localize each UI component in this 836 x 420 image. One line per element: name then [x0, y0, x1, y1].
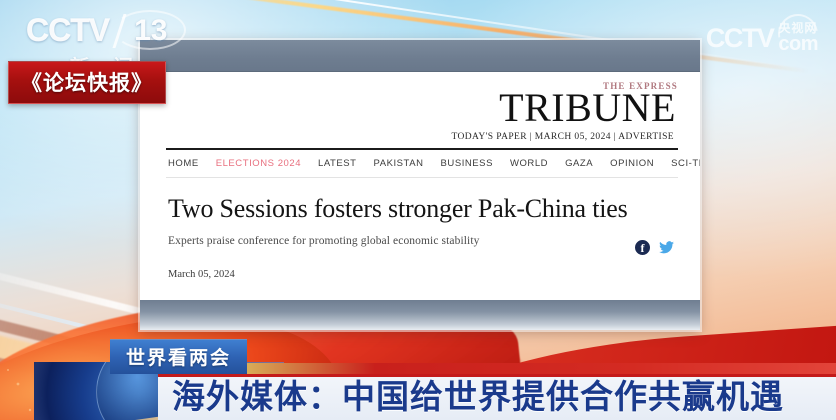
social-share-group: f — [635, 240, 674, 255]
nav-item-latest[interactable]: LATEST — [318, 158, 357, 169]
twitter-icon[interactable] — [659, 240, 674, 255]
masthead-kicker: THE EXPRESS — [603, 81, 678, 91]
screenshot-page-body: THE EXPRESS TRIBUNE TODAY'S PAPER | MARC… — [140, 72, 700, 300]
article-block: Two Sessions fosters stronger Pak-China … — [140, 178, 700, 280]
cctv-logo-oval — [114, 10, 186, 50]
nav-item-opinion[interactable]: OPINION — [610, 158, 654, 169]
site-navigation: HOMEELECTIONS 2024LATESTPAKISTANBUSINESS… — [140, 150, 700, 177]
twitter-bird-glyph — [659, 241, 674, 254]
newspaper-masthead: THE EXPRESS TRIBUNE TODAY'S PAPER | MARC… — [140, 72, 700, 144]
cctv-com-watermark: CCTV 央视网 com — [706, 22, 818, 54]
nav-item-elections-2024[interactable]: ELECTIONS 2024 — [216, 158, 301, 169]
lower-third-headline: 海外媒体：中国给世界提供合作共赢机遇 — [172, 370, 784, 418]
article-date: March 05, 2024 — [168, 269, 674, 280]
lower-third-program-label: 世界看两会 — [126, 348, 231, 369]
nav-item-sci-tech[interactable]: SCI-TECH — [671, 158, 700, 169]
cctv-wordmark: CCTV — [26, 12, 109, 49]
program-name-banner: 《论坛快报》 — [8, 61, 166, 104]
nav-item-home[interactable]: HOME — [168, 158, 199, 169]
lower-third-program-tag: 世界看两会 — [110, 339, 247, 374]
article-standfirst: Experts praise conference for promoting … — [168, 235, 674, 247]
nav-item-gaza[interactable]: GAZA — [565, 158, 593, 169]
screenshot-browser-topbar — [140, 40, 700, 72]
news-website-screenshot: THE EXPRESS TRIBUNE TODAY'S PAPER | MARC… — [140, 40, 700, 330]
article-headline: Two Sessions fosters stronger Pak-China … — [168, 194, 674, 224]
program-name-label: 《论坛快报》 — [21, 72, 153, 95]
nav-item-business[interactable]: BUSINESS — [441, 158, 493, 169]
masthead-subline: TODAY'S PAPER | MARCH 05, 2024 | ADVERTI… — [166, 132, 682, 142]
facebook-icon[interactable]: f — [635, 240, 650, 255]
lower-third-overlay: 世界看两会 海外媒体：中国给世界提供合作共赢机遇 — [0, 342, 836, 420]
screenshot-browser-bottombar — [140, 300, 700, 330]
masthead-title: TRIBUNE — [166, 88, 682, 128]
nav-item-world[interactable]: WORLD — [510, 158, 548, 169]
nav-item-pakistan[interactable]: PAKISTAN — [374, 158, 424, 169]
cctv-com-wordmark: CCTV — [706, 23, 774, 54]
cctv-logo-row: CCTV 13 — [26, 12, 167, 49]
